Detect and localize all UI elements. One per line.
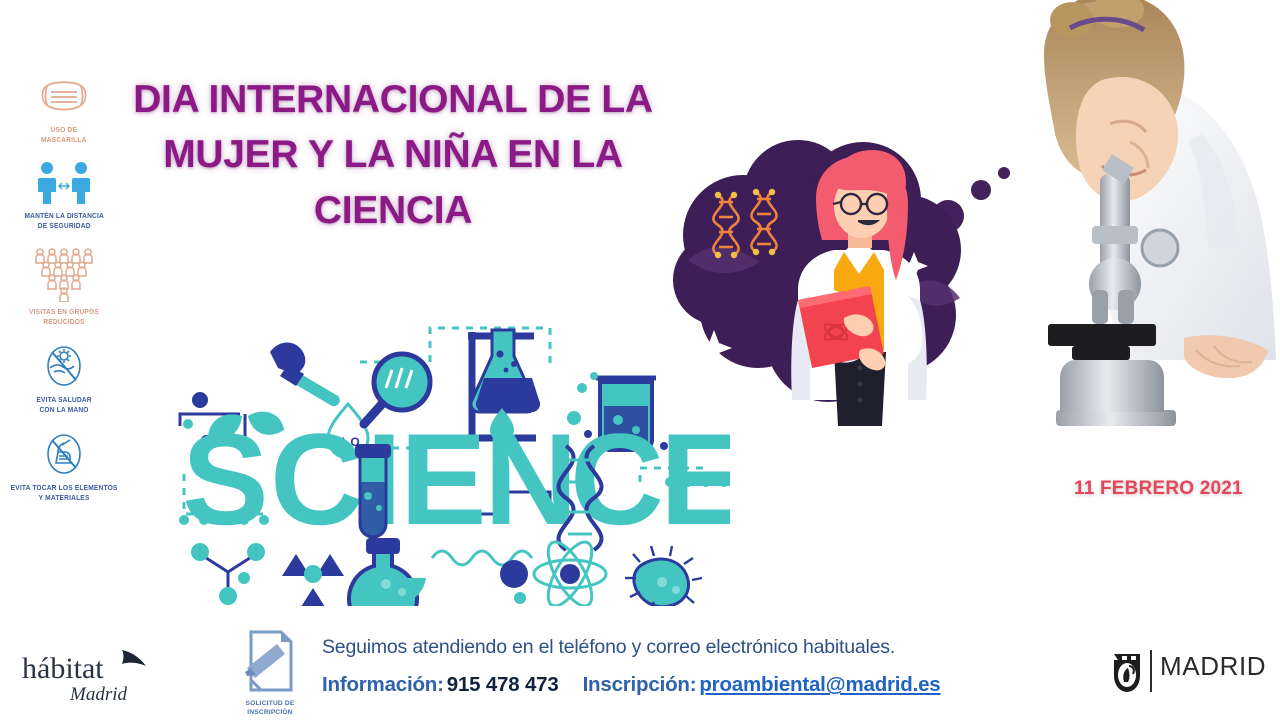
dot-small — [514, 592, 526, 604]
footer-contact-line: Información:915 478 473Inscripción:proam… — [322, 673, 1022, 697]
madrid-city-logo: MADRID — [1104, 646, 1264, 698]
covid-measure-label: EVITA TOCAR LOS ELEMENTOS Y MATERIALES — [11, 483, 118, 504]
svg-text:E: E — [400, 406, 487, 552]
event-date: 11 FEBRERO 2021 — [1074, 478, 1243, 500]
registration-badge: SOLICITUD DE INSCRIPCIÓN — [228, 628, 312, 720]
covid-measure-no-touching: EVITA TOCAR LOS ELEMENTOS Y MATERIALES — [0, 430, 128, 504]
girl-microscope-photo — [952, 0, 1280, 474]
habitat-madrid-logo: hábitat Madrid — [18, 644, 158, 704]
svg-text:C: C — [570, 406, 664, 552]
reduced-groups-icon — [32, 246, 96, 302]
logo-divider — [1150, 650, 1152, 692]
registration-label: Inscripción: — [583, 673, 697, 696]
registration-form-icon — [239, 628, 301, 694]
covid-measure-label: MANTÉN LA DISTANCIA DE SEGURIDAD — [24, 211, 104, 232]
science-word-illustration: H₂O — [170, 296, 730, 606]
email-link[interactable]: proambiental@madrid.es — [699, 673, 940, 696]
no-touching-icon — [40, 430, 88, 478]
svg-text:C: C — [270, 406, 364, 552]
footer-notice: Seguimos atendiendo en el teléfono y cor… — [322, 636, 1022, 659]
svg-text:S: S — [182, 406, 269, 552]
radiation-icon — [282, 554, 344, 606]
bacteria-icon — [625, 546, 702, 606]
covid-measure-label: USO DE MASCARILLA — [41, 125, 87, 146]
registration-badge-label: SOLICITUD DE INSCRIPCIÓN — [228, 700, 312, 718]
science-wordmark: S C I E N C E — [182, 406, 730, 552]
madrid-logo-word: MADRID — [1160, 651, 1266, 682]
erlenmeyer-flask-icon — [471, 330, 540, 412]
covid-measure-groups: VISITAS EN GRUPOS REDUCIDOS — [0, 246, 128, 328]
no-handshake-icon — [40, 342, 88, 390]
bird-icon — [122, 650, 146, 666]
habitat-logo-subword: Madrid — [69, 684, 128, 704]
face-mask-icon — [38, 72, 90, 120]
page-title: DIA INTERNACIONAL DE LA MUJER Y LA NIÑA … — [108, 72, 678, 238]
dropper-icon — [270, 342, 340, 406]
covid-measure-label: VISITAS EN GRUPOS REDUCIDOS — [29, 307, 99, 328]
phone-number[interactable]: 915 478 473 — [447, 673, 559, 696]
habitat-logo-word: hábitat — [22, 652, 104, 685]
footer: hábitat Madrid SOLICITUD DE INSCRIPCIÓN … — [0, 626, 1280, 720]
covid-measure-label: EVITA SALUDAR CON LA MANO — [36, 395, 91, 416]
test-tube-icon — [355, 444, 391, 537]
footer-contact-block: Seguimos atendiendo en el teléfono y cor… — [322, 636, 1022, 697]
female-scientist-figure — [791, 150, 927, 426]
dot-large — [500, 560, 528, 588]
social-distance-icon — [34, 160, 94, 206]
info-label: Información: — [322, 673, 444, 696]
poster-canvas: USO DE MASCARILLA — [0, 0, 1280, 720]
covid-measure-no-handshake: EVITA SALUDAR CON LA MANO — [0, 342, 128, 416]
